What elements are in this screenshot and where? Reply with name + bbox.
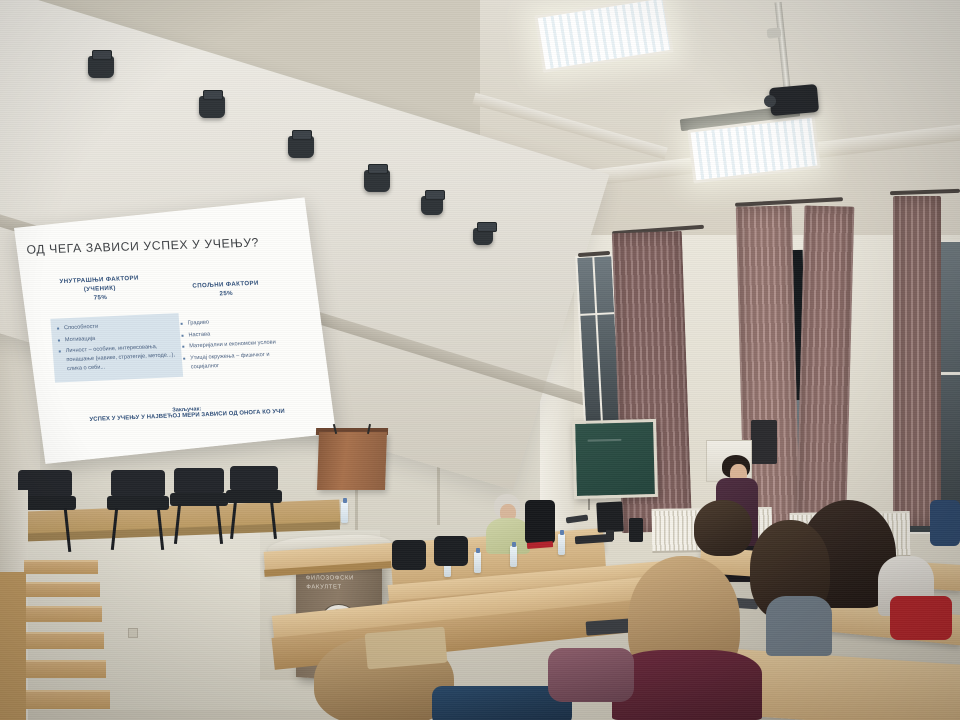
seated-presenter-body xyxy=(486,518,530,554)
desk-monitor[interactable] xyxy=(596,501,624,532)
slide-left-bullets: Способности Мотивација Личност – особине… xyxy=(50,313,183,383)
student-head-5 xyxy=(694,500,752,556)
desk-surface-foreground xyxy=(365,627,448,670)
presentation-slide: ОД ЧЕГА ЗАВИСИ УСПЕХ У УЧЕЊУ? УНУТРАШЊИ … xyxy=(14,197,336,463)
stage-chair-3[interactable] xyxy=(170,468,228,542)
list-item: Личност – особине, интересовања, понашањ… xyxy=(58,342,178,373)
student-red-jacket xyxy=(890,596,952,640)
projector-pole-mount xyxy=(767,27,782,38)
pc-tower xyxy=(629,518,643,542)
wall-speaker xyxy=(751,420,777,464)
stage-chair-4[interactable] xyxy=(226,466,282,538)
stair-step-1 xyxy=(24,560,98,574)
slide-right-bullets: Градиво Настава Материјални и економски … xyxy=(179,315,295,375)
water-bottle-2[interactable] xyxy=(474,552,481,573)
spotlight-4 xyxy=(364,170,390,192)
chalkboard xyxy=(572,419,658,499)
spotlight-3 xyxy=(288,136,314,158)
stage-chair-2[interactable] xyxy=(107,470,169,548)
window-mullion xyxy=(592,257,603,437)
monitor-stand xyxy=(606,530,614,540)
slide-conclusion: Закључак: УСПЕХ У УЧЕЊУ У НАЈВЕЋОЈ МЕРИ … xyxy=(53,401,320,424)
student-scarf xyxy=(548,648,634,702)
ceiling-projector xyxy=(769,84,819,116)
table-chair-1[interactable] xyxy=(392,540,426,570)
list-item: Утицај окружења – физичког и социјалног xyxy=(182,350,295,372)
slide-title: ОД ЧЕГА ЗАВИСИ УСПЕХ У УЧЕЊУ? xyxy=(26,234,299,257)
stair-step-3 xyxy=(16,606,102,622)
lecture-hall-photo: ОД ЧЕГА ЗАВИСИ УСПЕХ У УЧЕЊУ? УНУТРАШЊИ … xyxy=(0,0,960,720)
lectern-brand-text: ФИЛОЗОФСКИ ФАКУЛТЕТ xyxy=(305,574,382,592)
projection-screen: ОД ЧЕГА ЗАВИСИ УСПЕХ У УЧЕЊУ? УНУТРАШЊИ … xyxy=(14,197,336,463)
spotlight-5 xyxy=(421,196,443,215)
curtain-panel-3 xyxy=(796,205,855,546)
spotlight-6 xyxy=(473,228,493,245)
projector-lens xyxy=(764,95,777,108)
spotlight-1 xyxy=(88,56,114,78)
table-chair-2[interactable] xyxy=(434,536,468,566)
water-bottle-4[interactable] xyxy=(558,534,565,555)
stair-stringer xyxy=(0,572,26,720)
wooden-podium xyxy=(317,432,387,490)
office-chair-back[interactable] xyxy=(525,500,555,544)
spotlight-2 xyxy=(199,96,225,118)
water-bottle-lectern[interactable] xyxy=(341,502,348,523)
slide-left-heading: УНУТРАШЊИ ФАКТОРИ (УЧЕНИК) 75% xyxy=(44,273,156,305)
water-bottle-3[interactable] xyxy=(510,546,517,567)
lectern-brand-line: ФИЛОЗОФСКИ ФАКУЛТЕТ xyxy=(305,574,382,592)
stair-step-2 xyxy=(20,582,100,597)
stage-stairs[interactable] xyxy=(0,560,128,720)
wall-outlet xyxy=(128,628,138,638)
curtain-panel-4 xyxy=(893,196,941,526)
chalk-mark xyxy=(587,439,621,442)
student-body-2 xyxy=(766,596,832,656)
slide-right-heading: СПОЉНИ ФАКТОРИ 25% xyxy=(171,278,280,301)
student-blue-sleeve xyxy=(930,500,960,546)
student-body-3 xyxy=(612,650,762,720)
